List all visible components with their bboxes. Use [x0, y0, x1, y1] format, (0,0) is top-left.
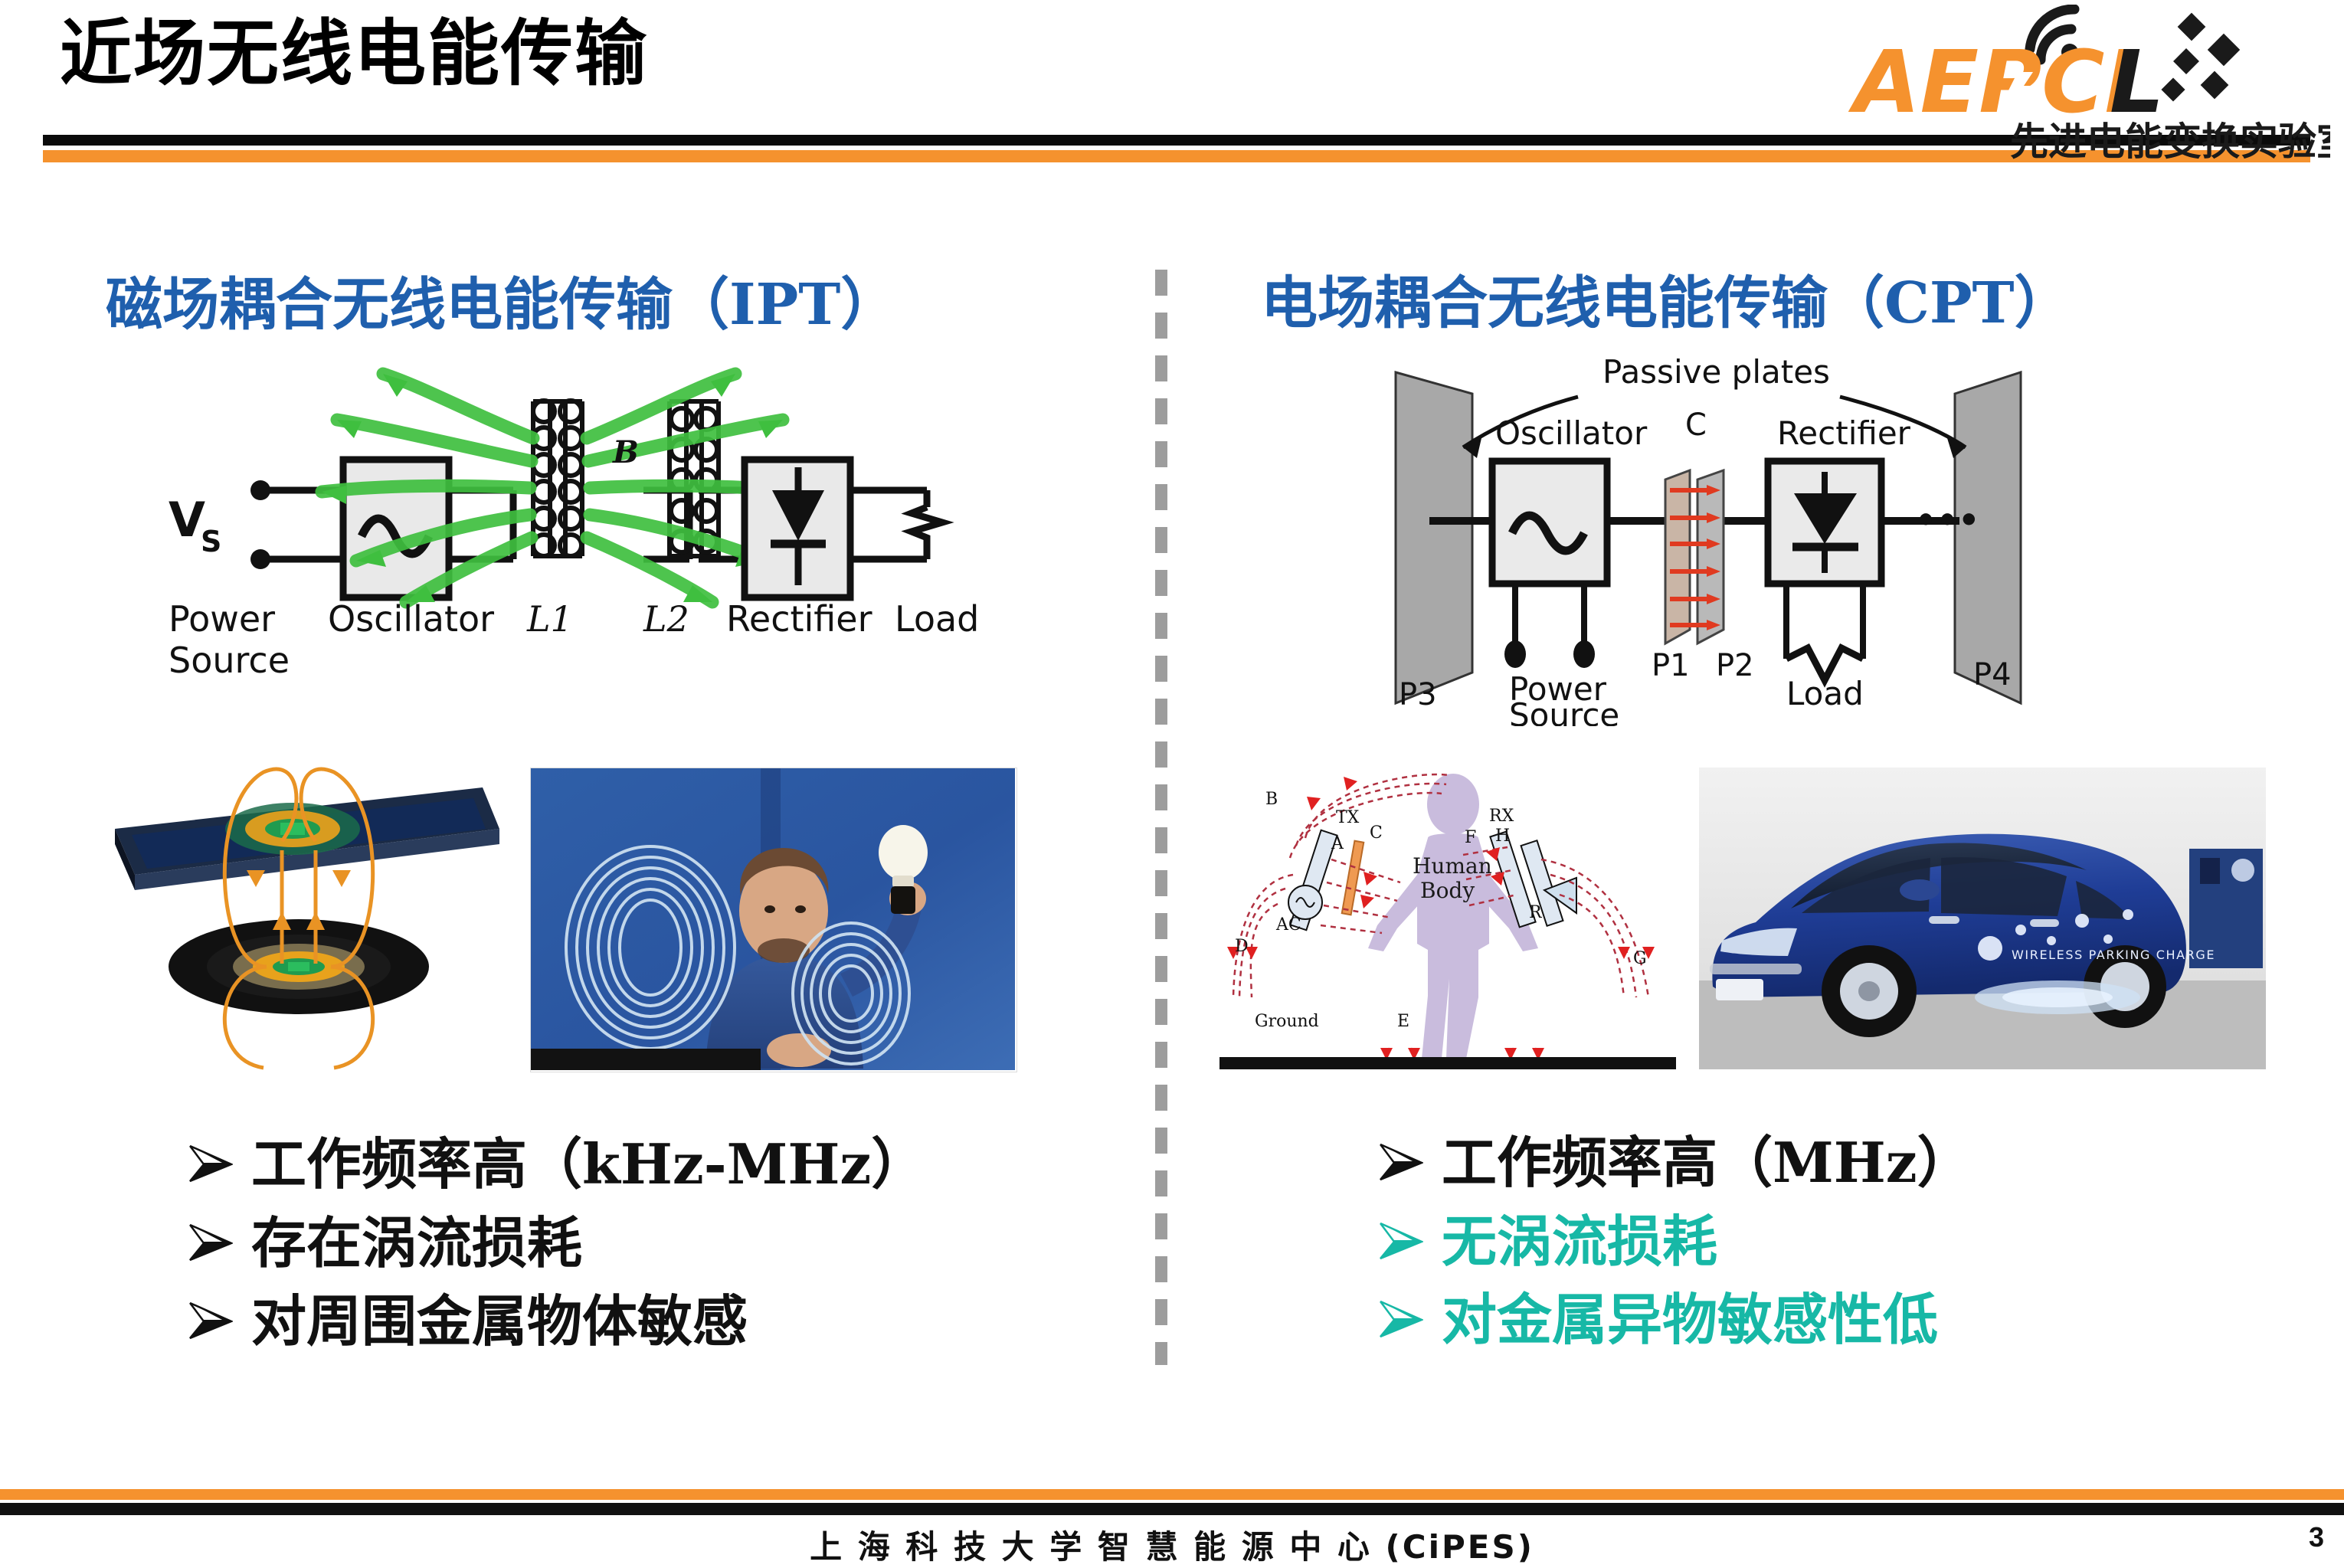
bullet-text: 对周围金属物体敏感 [251, 1291, 748, 1353]
ipt-circuit-schematic: B V S Power Source Oscillator L1 L2 Rect… [153, 346, 1026, 683]
label-h: H [1495, 827, 1510, 846]
label-p4: P4 [1973, 657, 2012, 692]
label-cpt-oscillator: Oscillator [1495, 414, 1648, 452]
cpt-circuit-schematic: Passive plates Oscillator C Rectifier P1… [1272, 343, 2084, 726]
cpt-terminal-right [1573, 640, 1595, 668]
label-f: F [1465, 828, 1476, 847]
label-vs: V [169, 492, 205, 548]
arrow-bullet-icon [1379, 1211, 1442, 1260]
plate-p2 [1697, 470, 1724, 643]
footer-text: 上 海 科 技 大 学 智 慧 能 源 中 心 (CiPES) [0, 1521, 2344, 1568]
footer-rule-black [0, 1503, 2344, 1515]
column-divider [1155, 270, 1167, 1365]
label-g: G [1633, 949, 1647, 968]
arrow-bullet-icon [188, 1213, 251, 1262]
label-p2: P2 [1716, 648, 1754, 683]
heading-cpt: 电场耦合无线电能传输（CPT） [1261, 257, 2071, 339]
label-b: B [1265, 790, 1278, 809]
field-heatmap-phone [225, 803, 360, 855]
arrow-bullet-icon [188, 1291, 251, 1340]
signal-diamonds-icon [2161, 13, 2240, 102]
label-rectifier: Rectifier [726, 598, 872, 640]
footer-rule-orange [0, 1489, 2344, 1500]
label-r: R [1529, 903, 1543, 922]
terminal-dot-bottom [250, 549, 270, 569]
label-ground: Ground [1255, 1012, 1319, 1031]
label-cpt-load: Load [1786, 675, 1864, 712]
label-a: A [1331, 834, 1344, 853]
bullet-list-ipt: 工作频率高（kHz-MHz） 存在涡流损耗 对周围金属物体敏感 [188, 1134, 1138, 1370]
bullet-text: 工作频率高（MHz） [1442, 1132, 1972, 1194]
bullet-text: 存在涡流损耗 [251, 1213, 582, 1275]
plate-p3 [1396, 372, 1472, 703]
arrow-bullet-icon [1379, 1132, 1442, 1181]
bullet-item: 工作频率高（MHz） [1379, 1132, 2298, 1194]
label-l2: L2 [643, 598, 689, 640]
label-tx: TX [1336, 808, 1360, 827]
charging-pad-illustration [169, 919, 429, 1014]
label-human-body-line1: Human [1413, 853, 1492, 879]
label-passive-plates: Passive plates [1602, 353, 1830, 391]
label-ac: AC [1275, 915, 1301, 935]
logo-l-glyph: L [2110, 33, 2164, 133]
plate-p1 [1665, 470, 1690, 643]
bullet-item: 存在涡流损耗 [188, 1213, 1138, 1275]
terminal-dot-top [250, 480, 270, 500]
arrow-bullet-icon [1379, 1289, 1442, 1338]
load-resistor-icon [912, 507, 942, 544]
label-p1: P1 [1652, 648, 1690, 683]
bullet-item: 工作频率高（kHz-MHz） [188, 1134, 1138, 1196]
label-cpt-power-source-line2: Source [1509, 696, 1619, 726]
cpt-terminal-left [1504, 640, 1526, 668]
diagram-human-body-cpt: Human Body [1219, 768, 1687, 1071]
label-rx: RX [1489, 807, 1514, 826]
label-load: Load [895, 598, 979, 640]
photo-ev-wireless-charging: WIRELESS PARKING CHARGE [1699, 768, 2266, 1071]
cpt-oscillator-box [1492, 461, 1607, 584]
label-power-source-line1: Power [169, 598, 275, 640]
label-c: C [1685, 408, 1707, 443]
heading-ipt: 磁场耦合无线电能传输（IPT） [106, 259, 897, 341]
bullet-text: 对金属异物敏感性低 [1442, 1289, 1938, 1351]
label-c: C [1370, 823, 1383, 843]
ground-bar [1219, 1057, 1676, 1069]
label-d: D [1235, 937, 1249, 956]
bullet-text: 无涡流损耗 [1442, 1211, 1717, 1273]
podium [531, 1049, 761, 1070]
bullet-text: 工作频率高（kHz-MHz） [251, 1134, 926, 1196]
label-continuation-ellipsis: ••• [1915, 501, 1979, 540]
bullet-list-cpt: 工作频率高（MHz） 无涡流损耗 对金属异物敏感性低 [1379, 1132, 2298, 1368]
page-title: 近场无线电能传输 [60, 17, 648, 93]
label-cpt-rectifier: Rectifier [1777, 414, 1911, 452]
photo-phone-wireless-charging [101, 758, 519, 1080]
bullet-item: 无涡流损耗 [1379, 1211, 2298, 1273]
bullet-item: 对金属异物敏感性低 [1379, 1289, 2298, 1351]
photo-resonant-coil-demo [530, 768, 1017, 1072]
page-number: 3 [2309, 1521, 2324, 1553]
label-l1: L1 [526, 598, 573, 640]
label-power-source-line2: Source [169, 640, 290, 681]
coil-l1 [533, 401, 582, 556]
arrow-bullet-icon [188, 1134, 251, 1183]
field-label-b: B [612, 434, 639, 470]
label-p3: P3 [1399, 677, 1437, 712]
label-vs-subscript: S [201, 525, 221, 558]
label-oscillator: Oscillator [328, 598, 494, 640]
aepcl-logo: AEPCL L 先进电能变换实验室 [1840, 5, 2330, 162]
label-human-body-line2: Body [1420, 878, 1475, 903]
bullet-item: 对周围金属物体敏感 [188, 1291, 1138, 1353]
car-livery-text: WIRELESS PARKING CHARGE [2012, 948, 2215, 962]
logo-subtitle: 先进电能变换实验室 [2010, 119, 2330, 162]
label-e: E [1397, 1012, 1409, 1031]
